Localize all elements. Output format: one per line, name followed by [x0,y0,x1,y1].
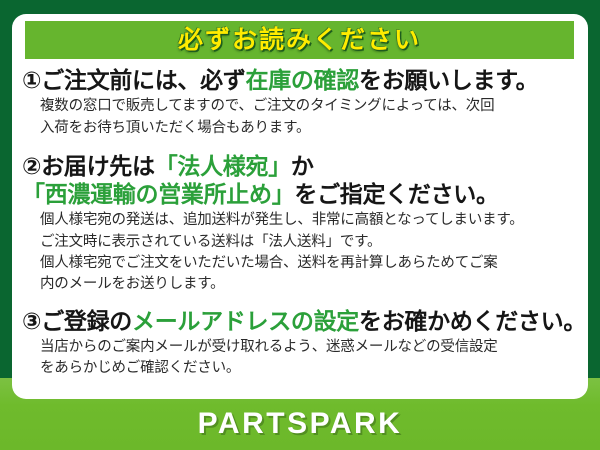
notice-item-1-heading-post: をお願いします。 [359,67,538,93]
notice-item-1: ①ご注文前には、必ず在庫の確認をお願いします。 複数の窓口で販売してますので、ご… [12,66,588,139]
notice-item-3-body: 当店からのご案内メールが受け取れるよう、迷惑メールなどの受信設定 をあらかじめご… [40,337,580,380]
notice-item-1-heading-highlight: 在庫の確認 [246,67,360,93]
content-panel: 必ずお読みください ①ご注文前には、必ず在庫の確認をお願いします。 複数の窓口で… [12,14,588,399]
notice-item-list: ①ご注文前には、必ず在庫の確認をお願いします。 複数の窓口で販売してますので、ご… [12,66,588,380]
title-banner: 必ずお読みください [25,21,574,59]
page-title: 必ずお読みください [178,28,421,53]
notice-item-1-heading-pre: ご注文前には、必ず [41,67,245,93]
notice-item-3-marker: ③ [22,308,41,334]
notice-item-2-body-line-2: ご注文時に表示されている送料は「法人送料」です。 [40,232,580,253]
notice-card: 必ずお読みください ①ご注文前には、必ず在庫の確認をお願いします。 複数の窓口で… [0,0,600,450]
notice-item-2-body-line-3: 個人様宅宛でご注文をいただいた場合、送料を再計算しあらためてご案 [40,253,580,274]
brand-logo-text: PARTSPARK [198,409,403,439]
notice-item-2-heading-highlight2: 「西濃運輸の営業所止め」 [22,181,294,207]
notice-item-3-body-line-1: 当店からのご案内メールが受け取れるよう、迷惑メールなどの受信設定 [40,337,580,358]
notice-item-3-heading-highlight: メールアドレスの設定 [132,308,359,334]
notice-item-3-heading: ③ご登録のメールアドレスの設定をお確かめください。 [22,307,580,335]
notice-item-2-heading-mid: か [291,153,314,179]
notice-item-1-body-line-1: 複数の窓口で販売してますので、ご注文のタイミングによっては、次回 [40,96,580,117]
notice-item-3-body-line-2: をあらかじめご確認ください。 [40,358,580,379]
notice-item-2-heading-pre: お届け先は [41,153,155,179]
notice-item-3: ③ご登録のメールアドレスの設定をお確かめください。 当店からのご案内メールが受け… [12,307,588,380]
notice-item-1-marker: ① [22,67,41,93]
notice-item-3-heading-pre: ご登録の [41,308,132,334]
notice-item-2: ②お届け先は「法人様宛」か「西濃運輸の営業所止め」をご指定ください。 個人様宅宛… [12,152,588,296]
notice-item-2-heading-post: をご指定ください。 [294,181,498,207]
notice-item-2-body-line-1: 個人様宅宛の発送は、追加送料が発生し、非常に高額となってしまいます。 [40,210,580,231]
notice-item-2-heading: ②お届け先は「法人様宛」か「西濃運輸の営業所止め」をご指定ください。 [22,152,580,208]
notice-item-2-body-line-4: 内のメールをお送りします。 [40,274,580,295]
notice-item-3-heading-post: をお確かめください。 [359,308,586,334]
notice-item-1-heading: ①ご注文前には、必ず在庫の確認をお願いします。 [22,66,580,94]
notice-item-1-body: 複数の窓口で販売してますので、ご注文のタイミングによっては、次回 入荷をお待ち頂… [40,96,580,139]
notice-item-1-body-line-2: 入荷をお待ち頂いただく場合もあります。 [40,118,580,139]
notice-item-2-marker: ② [22,153,41,179]
notice-item-2-body: 個人様宅宛の発送は、追加送料が発生し、非常に高額となってしまいます。 ご注文時に… [40,210,580,296]
footer-brand-area: PARTSPARK [0,398,600,450]
notice-item-2-heading-highlight: 「法人様宛」 [155,153,291,179]
